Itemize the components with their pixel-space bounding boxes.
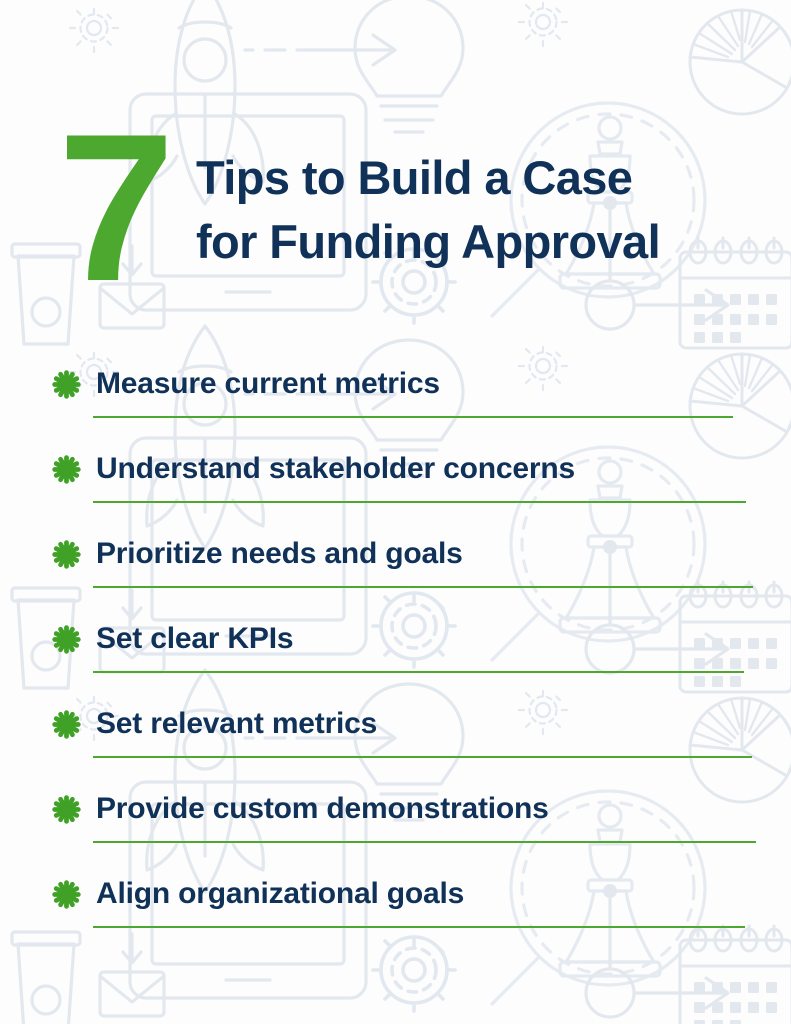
list-item: Provide custom demonstrations bbox=[0, 781, 791, 866]
tip-line: Measure current metrics bbox=[0, 356, 791, 412]
tip-label: Align organizational goals bbox=[96, 877, 464, 911]
tip-separator-rule bbox=[93, 501, 746, 503]
infographic-poster: 7 Tips to Build a Case for Funding Appro… bbox=[0, 0, 791, 1024]
tip-separator-rule bbox=[93, 586, 753, 588]
title-line-1: Tips to Build a Case bbox=[196, 146, 776, 210]
tip-label: Understand stakeholder concerns bbox=[96, 452, 575, 486]
tip-separator-rule bbox=[93, 926, 745, 928]
tip-label: Measure current metrics bbox=[96, 367, 440, 401]
page-title: Tips to Build a Case for Funding Approva… bbox=[196, 146, 776, 274]
tip-label: Prioritize needs and goals bbox=[96, 537, 463, 571]
green-asterisk-icon bbox=[50, 878, 83, 911]
green-asterisk-icon bbox=[50, 453, 83, 486]
tip-separator-rule bbox=[93, 671, 744, 673]
tip-label: Set clear KPIs bbox=[96, 622, 293, 656]
tip-line: Set relevant metrics bbox=[0, 696, 791, 752]
tip-line: Understand stakeholder concerns bbox=[0, 441, 791, 497]
tip-line: Set clear KPIs bbox=[0, 611, 791, 667]
tip-line: Prioritize needs and goals bbox=[0, 526, 791, 582]
tips-list: Measure current metricsUnderstand stakeh… bbox=[0, 356, 791, 951]
poster-header: 7 Tips to Build a Case for Funding Appro… bbox=[0, 0, 791, 330]
tip-label: Set relevant metrics bbox=[96, 707, 377, 741]
list-item: Prioritize needs and goals bbox=[0, 526, 791, 611]
list-item: Align organizational goals bbox=[0, 866, 791, 951]
tip-line: Provide custom demonstrations bbox=[0, 781, 791, 837]
tip-line: Align organizational goals bbox=[0, 866, 791, 922]
tip-separator-rule bbox=[93, 841, 756, 843]
title-line-2: for Funding Approval bbox=[196, 210, 776, 274]
tip-separator-rule bbox=[93, 416, 733, 418]
green-asterisk-icon bbox=[50, 368, 83, 401]
tip-label: Provide custom demonstrations bbox=[96, 792, 549, 826]
tip-separator-rule bbox=[93, 756, 752, 758]
list-item: Understand stakeholder concerns bbox=[0, 441, 791, 526]
list-item: Measure current metrics bbox=[0, 356, 791, 441]
green-asterisk-icon bbox=[50, 793, 83, 826]
list-item: Set clear KPIs bbox=[0, 611, 791, 696]
green-asterisk-icon bbox=[50, 623, 83, 656]
green-asterisk-icon bbox=[50, 708, 83, 741]
list-item: Set relevant metrics bbox=[0, 696, 791, 781]
tip-count-number: 7 bbox=[58, 108, 169, 308]
green-asterisk-icon bbox=[50, 538, 83, 571]
